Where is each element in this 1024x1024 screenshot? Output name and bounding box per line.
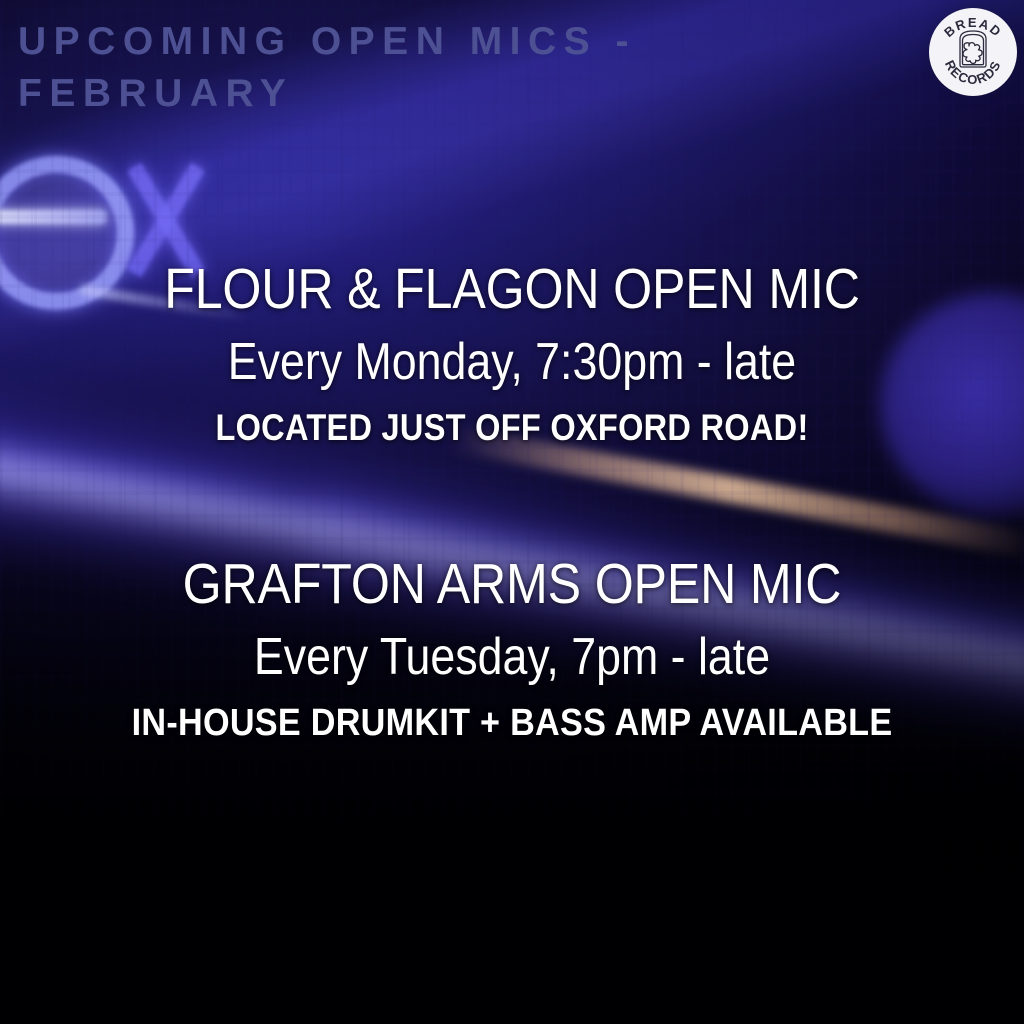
poster-header: UPCOMING OPEN MICS - FEBRUARY xyxy=(18,16,718,120)
open-mic-poster: UPCOMING OPEN MICS - FEBRUARY BREAD xyxy=(0,0,1024,1024)
event-title: GRAFTON ARMS OPEN MIC xyxy=(61,553,962,615)
event-time: Every Monday, 7:30pm - late xyxy=(72,333,953,391)
poster-content: UPCOMING OPEN MICS - FEBRUARY BREAD xyxy=(0,0,1024,1024)
event-note: LOCATED JUST OFF OXFORD ROAD! xyxy=(61,407,962,449)
event-list: FLOUR & FLAGON OPEN MIC Every Monday, 7:… xyxy=(0,258,1024,744)
event-note: IN-HOUSE DRUMKIT + BASS AMP AVAILABLE xyxy=(51,702,973,744)
header-line-2: FEBRUARY xyxy=(18,68,718,120)
event-title: FLOUR & FLAGON OPEN MIC xyxy=(61,258,962,320)
logo-top-text: BREAD xyxy=(941,15,1005,40)
event-item: GRAFTON ARMS OPEN MIC Every Tuesday, 7pm… xyxy=(0,553,1024,744)
header-line-1: UPCOMING OPEN MICS - xyxy=(18,16,718,68)
event-time: Every Tuesday, 7pm - late xyxy=(72,628,953,686)
logo-bottom-text: RECORDS xyxy=(942,58,1004,87)
bread-records-logo: BREAD RECORDS xyxy=(929,8,1017,96)
event-item: FLOUR & FLAGON OPEN MIC Every Monday, 7:… xyxy=(0,258,1024,449)
